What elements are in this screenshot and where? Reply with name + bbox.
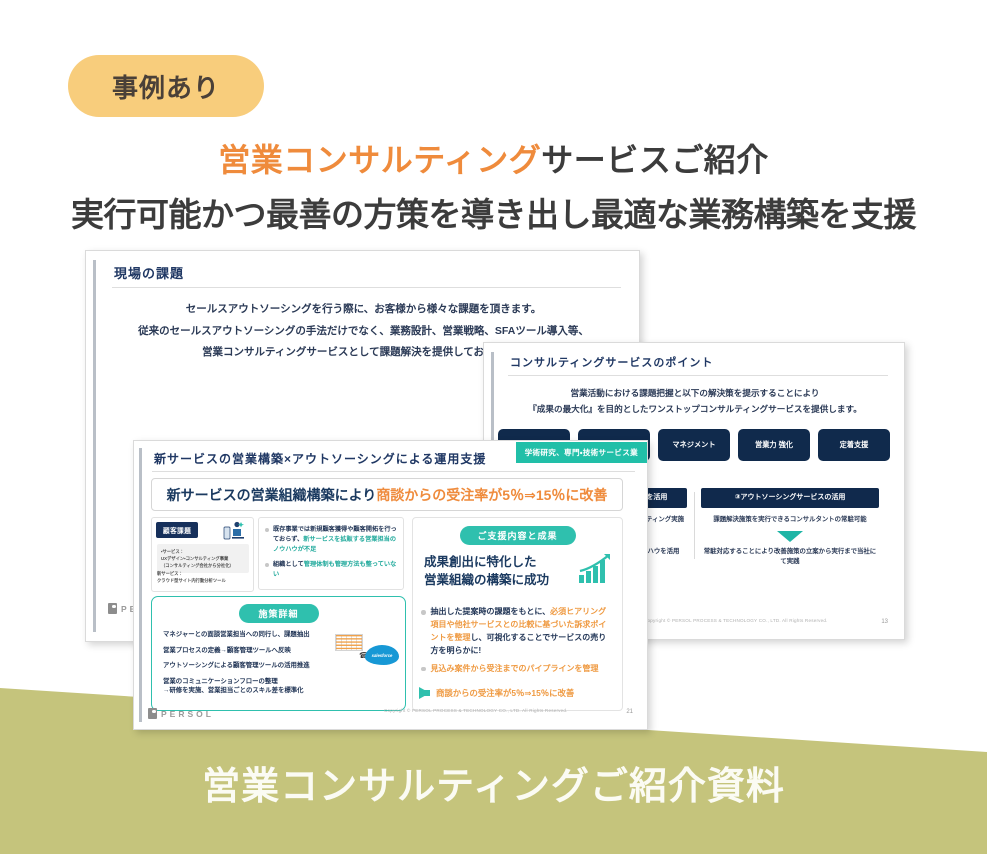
person-at-desk-icon xyxy=(221,520,247,542)
solution-column: ③アウトソーシングサービスの活用 課題解決施策を実行できるコンサルタントの常駐可… xyxy=(694,488,886,567)
slide-front-rule xyxy=(152,471,635,472)
headline-result-accent: 商談からの受注率が5％⇒15％に改善 xyxy=(376,485,607,505)
salesforce-cloud-icon: salesforce xyxy=(365,645,399,665)
issue-bullet-plain: 組織として xyxy=(273,561,304,568)
support-bullet-text: 見込み案件から受注までのパイプラインを管理 xyxy=(431,663,599,676)
persol-logo-mark-icon xyxy=(148,708,157,719)
page-subtitle: 実行可能かつ最善の方策を導き出し最適な業務構築を支援 xyxy=(0,188,987,236)
growth-chart-icon xyxy=(577,554,613,584)
solution-column-foot: 常駐対応することにより改善施策の立案から実行まで当社にて実践 xyxy=(701,547,879,567)
bullet-dot-icon xyxy=(265,563,269,567)
case-study-badge: 事例あり xyxy=(68,55,264,117)
measures-item: アウトソーシングによる顧客管理ツールの活用推進 xyxy=(163,661,396,671)
slide-front-title: 新サービスの営業構築×アウトソーシングによる運用支援 xyxy=(154,450,486,467)
issue-bullet-text: 組織として管理体制も管理方法も整っていない xyxy=(273,560,397,580)
support-headline: 成果創出に特化した 営業組織の構築に成功 xyxy=(424,553,549,589)
salesforce-label: salesforce xyxy=(372,653,393,658)
support-results-box: ご支援内容と成果 成果創出に特化した 営業組織の構築に成功 抽出した提案時の課題… xyxy=(412,517,623,711)
issue-bullet: 組織として管理体制も管理方法も整っていない xyxy=(265,560,397,580)
slide-front-page-number: 21 xyxy=(626,709,633,715)
promo-image-root: 事例あり 営業コンサルティングサービスご紹介 実行可能かつ最善の方策を導き出し最… xyxy=(0,0,987,854)
page-title-highlight: 営業コンサルティング xyxy=(218,142,541,178)
slide-back-rule xyxy=(112,287,621,288)
page-title: 営業コンサルティングサービスご紹介 xyxy=(0,135,987,181)
slide-back-body-line-2: 従来のセールスアウトソーシングの手法だけでなく、業務設計、営業戦略、SFAツール… xyxy=(116,321,611,343)
customer-issue-tag: 顧客課題 xyxy=(156,522,198,538)
measures-caption: 施策詳細 xyxy=(238,604,318,623)
headline-result-prefix: 新サービスの営業組織構築により xyxy=(167,485,377,505)
slide-front-copyright: Copyright © PERSOL PROCESS & TECHNOLOGY … xyxy=(384,708,568,713)
bullet-dot-icon xyxy=(265,528,269,532)
page-title-rest: サービスご紹介 xyxy=(541,142,769,178)
down-triangle-icon xyxy=(777,531,803,542)
slide-preview-case-study[interactable]: 新サービスの営業構築×アウトソーシングによる運用支援 学術研究、専門・技術サービ… xyxy=(133,440,648,730)
issue-bullet: 既存事業では新規顧客獲得や顧客開拓を行っておらず、新サービスを拡販する営業担当の… xyxy=(265,525,397,555)
slide-mid-copyright: Copyright © PERSOL PROCESS & TECHNOLOGY … xyxy=(644,618,828,623)
slide-accent-bar xyxy=(139,448,142,722)
slide-back-body-line-1: セールスアウトソーシングを行う際に、お客様から様々な課題を頂きます。 xyxy=(116,299,611,321)
bullet-dot-icon xyxy=(421,667,426,672)
customer-issue-card: 顧客課題 ・サービス： UXデザイン・コンサルティング事業 （コンサルティング会… xyxy=(151,517,254,592)
spreadsheet-icon xyxy=(335,634,363,651)
persol-logo-front: PERSOL xyxy=(148,708,214,719)
support-bullet-list: 抽出した提案時の課題をもとに、必須ヒアリング項目や他社サービスとの比較に基づいた… xyxy=(421,606,614,681)
support-caption: ご支援内容と成果 xyxy=(459,526,575,545)
right-arrow-icon xyxy=(419,687,430,699)
support-seg-orange: 見込み案件から受注までのパイプラインを管理 xyxy=(431,664,599,673)
support-bullet: 抽出した提案時の課題をもとに、必須ヒアリング項目や他社サービスとの比較に基づいた… xyxy=(421,606,614,658)
slide-mid-rule xyxy=(508,375,888,376)
slide-mid-lead: 営業活動における課題把握と以下の解決策を提示することにより 『成果の最大化』を目… xyxy=(508,385,882,418)
issue-bullet-box: 既存事業では新規顧客獲得や顧客開拓を行っておらず、新サービスを拡販する営業担当の… xyxy=(258,517,404,590)
slide-mid-lead-line-2: 『成果の最大化』を目的としたワンストップコンサルティングサービスを提供します。 xyxy=(508,401,882,417)
persol-logo-text: PERSOL xyxy=(161,709,214,719)
customer-issue-meta-primary: ・サービス： UXデザイン・コンサルティング事業 （コンサルティング会社から分社… xyxy=(157,544,249,573)
support-conclusion-text: 商談からの受注率が5％⇒15％に改善 xyxy=(436,687,574,699)
issue-bullet-text: 既存事業では新規顧客獲得や顧客開拓を行っておらず、新サービスを拡販する営業担当の… xyxy=(273,525,397,555)
measures-item: 営業のコミュニケーションフローの整理 →研修を実施、営業担当ごとのスキル差を標準… xyxy=(163,677,396,696)
slide-mid-title: コンサルティングサービスのポイント xyxy=(510,354,713,370)
slide-accent-bar xyxy=(93,260,96,632)
support-bullet: 見込み案件から受注までのパイプラインを管理 xyxy=(421,663,614,676)
slide-mid-lead-line-1: 営業活動における課題把握と以下の解決策を提示することにより xyxy=(508,385,882,401)
support-bullet-text: 抽出した提案時の課題をもとに、必須ヒアリング項目や他社サービスとの比較に基づいた… xyxy=(431,606,615,658)
slide-mid-page-number: 13 xyxy=(881,619,888,625)
support-seg-dark: 抽出した提案時の課題をもとに、 xyxy=(431,607,551,616)
industry-tag: 学術研究、専門・技術サービス業 xyxy=(516,442,647,463)
slide-back-title: 現場の課題 xyxy=(114,263,184,282)
case-study-badge-label: 事例あり xyxy=(112,68,220,105)
solution-column-head: ③アウトソーシングサービスの活用 xyxy=(701,488,879,508)
measures-box: 施策詳細 マネジャーとの面談営業担当への同行し、課題抽出 営業プロセスの定義→顧… xyxy=(151,596,406,711)
support-conclusion-row: 商談からの受注率が5％⇒15％に改善 xyxy=(419,687,574,699)
persol-logo-mark-icon xyxy=(108,603,117,614)
solution-pill: マネジメント xyxy=(658,429,730,461)
bottom-document-title: 営業コンサルティングご紹介資料 xyxy=(0,755,987,810)
bullet-dot-icon xyxy=(421,610,426,615)
solution-pill: 定着支援 xyxy=(818,429,890,461)
customer-issue-meta-secondary: 新サービス： クラウド型サイト内行動分析ツール xyxy=(157,570,249,584)
solution-column-sub: 課題解決施策を実行できるコンサルタントの常駐可能 xyxy=(701,515,879,525)
headline-result-bar: 新サービスの営業組織構築により商談からの受注率が5％⇒15％に改善 xyxy=(151,478,623,511)
solution-pill: 営業力 強化 xyxy=(738,429,810,461)
